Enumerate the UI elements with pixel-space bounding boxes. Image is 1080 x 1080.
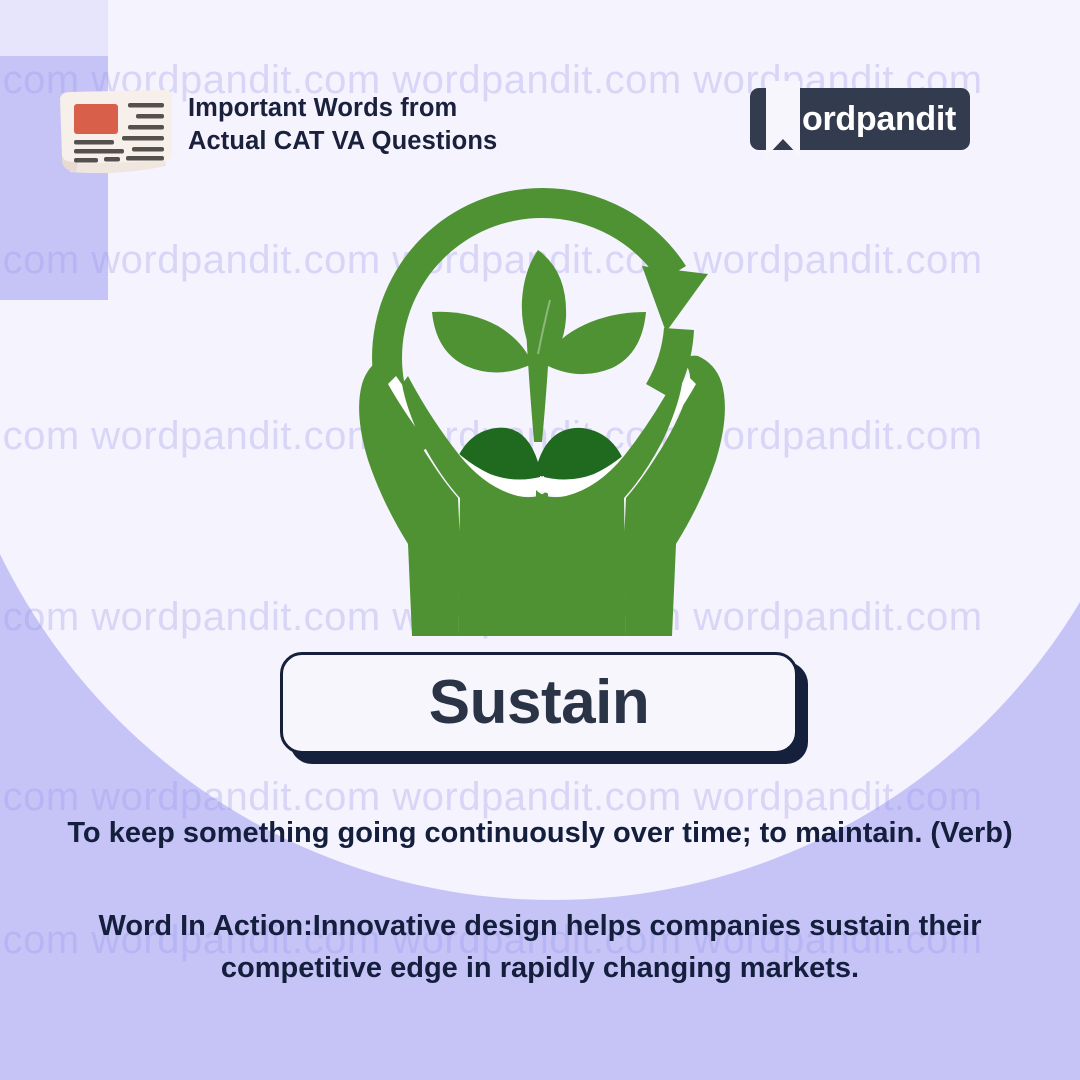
page-title-line-1: Important Words from bbox=[188, 92, 497, 125]
word-card-face: Sustain bbox=[280, 652, 798, 754]
bookmark-icon bbox=[766, 81, 800, 157]
wordpandit-logo[interactable]: ordpandit bbox=[750, 88, 970, 150]
sprout-icon bbox=[432, 250, 646, 442]
brand-name: ordpandit bbox=[802, 102, 956, 136]
pot-stem-icon bbox=[522, 506, 562, 536]
background-top-strip bbox=[0, 0, 1080, 56]
word-in-action: Word In Action:Innovative design helps c… bbox=[30, 905, 1050, 990]
vocabulary-word: Sustain bbox=[429, 672, 649, 734]
word-definition: To keep something going continuously ove… bbox=[50, 812, 1030, 854]
page-title-line-2: Actual CAT VA Questions bbox=[188, 125, 497, 158]
hands-holding-seedling-illustration bbox=[336, 184, 748, 646]
left-hand-icon bbox=[359, 356, 548, 636]
background-left-top-band bbox=[0, 0, 108, 56]
word-card: Sustain bbox=[280, 652, 808, 764]
poster-canvas: it.com wordpandit.com wordpandit.com wor… bbox=[0, 0, 1080, 1080]
page-title: Important Words from Actual CAT VA Quest… bbox=[188, 92, 497, 158]
newspaper-icon bbox=[48, 76, 178, 180]
right-hand-icon bbox=[536, 356, 725, 636]
